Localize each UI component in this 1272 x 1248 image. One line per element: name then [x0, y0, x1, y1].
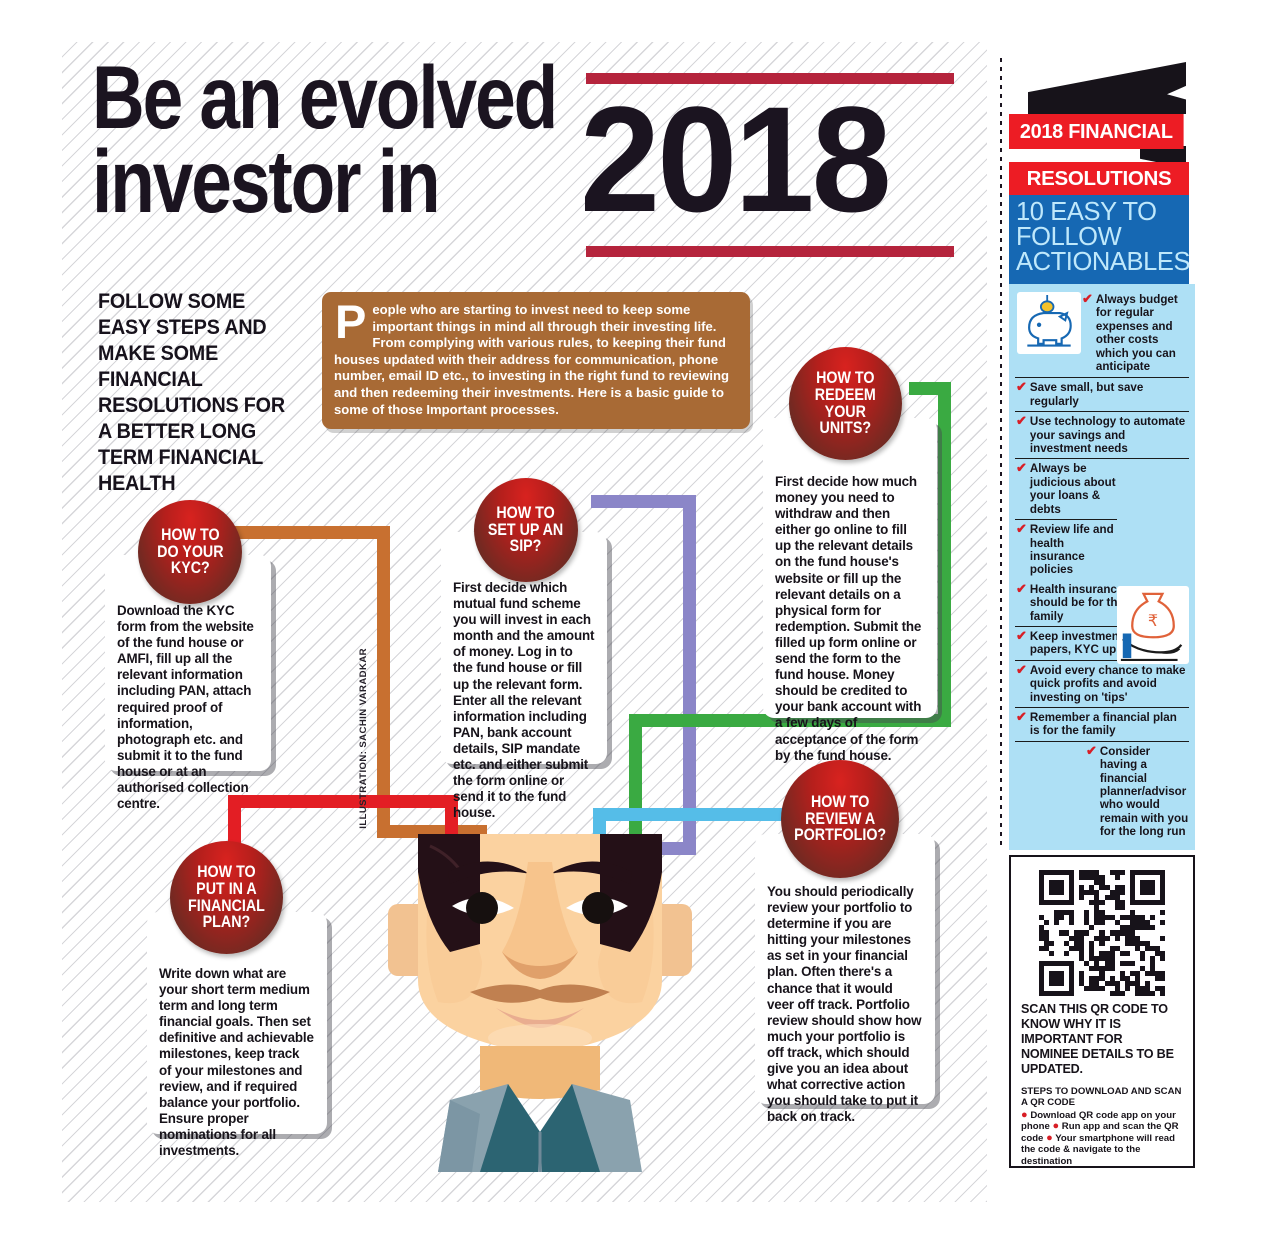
ribbon-title-line-1: 2018 FINANCIAL: [1009, 114, 1184, 149]
investor-illustration: [330, 832, 750, 1172]
badge-redeem-line-3: YOUR: [815, 404, 876, 421]
badge-redeem[interactable]: HOW TO REDEEM YOUR UNITS?: [789, 347, 902, 460]
badge-plan-line-4: PLAN?: [188, 914, 265, 931]
badge-sip[interactable]: HOW TO SET UP AN SIP?: [474, 478, 578, 582]
check-icon: ✔: [1016, 462, 1027, 474]
badge-kyc[interactable]: HOW TO DO YOUR KYC?: [138, 500, 242, 604]
pipe-orange-vertical: [377, 526, 390, 838]
badge-review-portfolio[interactable]: HOW TO REVIEW A PORTFOLIO?: [781, 760, 899, 878]
resolutions-sidebar: 2018 FINANCIAL RESOLUTIONS 10 EASY TO FO…: [1009, 62, 1195, 850]
qr-steps-title: STEPS TO DOWNLOAD AND SCAN A QR CODE: [1021, 1086, 1183, 1108]
check-icon: ✔: [1016, 583, 1027, 595]
headline-year-block: 2018: [586, 60, 954, 260]
pipe-orange-horizontal-top: [225, 526, 390, 539]
intro-card: People who are starting to invest need t…: [322, 292, 750, 429]
headline-year: 2018: [580, 78, 889, 240]
pipe-purple-vertical: [683, 495, 696, 855]
resolution-text: Remember a financial plan is for the fam…: [1030, 711, 1189, 738]
pipe-green-vertical-right: [938, 382, 951, 727]
card-redeem: First decide how much money you need to …: [763, 418, 937, 718]
list-item: ✔ Save small, but save regularly: [1015, 378, 1189, 412]
badge-kyc-line-1: HOW TO: [157, 527, 223, 544]
check-icon: ✔: [1016, 664, 1027, 676]
list-item: ✔ Remember a financial plan is for the f…: [1015, 708, 1189, 742]
qr-steps-body: ● Download QR code app on your phone ● R…: [1021, 1110, 1183, 1167]
ribbon-title-line-2: RESOLUTIONS: [1009, 162, 1189, 195]
list-item: ✔ Avoid every chance to make quick profi…: [1015, 661, 1189, 708]
badge-redeem-line-1: HOW TO: [815, 370, 876, 387]
resolution-text: Use technology to automate your savings …: [1030, 415, 1189, 455]
resolution-item-10-wrap: ✔ Consider having a financial planner/ad…: [1015, 742, 1189, 842]
year-rule-bottom: [586, 246, 954, 257]
kicker-text: FOLLOW SOME EASY STEPS AND MAKE SOME FIN…: [98, 289, 300, 497]
resolution-text: Review life and health insurance policie…: [1030, 523, 1117, 577]
resolution-text: Save small, but save regularly: [1030, 381, 1189, 408]
resolution-text: Avoid every chance to make quick profits…: [1030, 664, 1189, 704]
check-icon: ✔: [1016, 415, 1027, 427]
badge-financial-plan[interactable]: HOW TO PUT IN A FINANCIAL PLAN?: [170, 841, 283, 954]
pipe-purple-horizontal-top: [591, 495, 696, 508]
svg-text:₹: ₹: [1148, 612, 1158, 630]
resolution-text: Always be judicious about your loans & d…: [1030, 462, 1117, 516]
badge-plan-line-1: HOW TO: [188, 864, 265, 881]
list-item: ✔ Always be judicious about your loans &…: [1015, 459, 1117, 520]
check-icon: ✔: [1086, 745, 1097, 757]
check-icon: ✔: [1016, 523, 1027, 535]
resolution-text: Consider having a financial planner/advi…: [1100, 745, 1189, 839]
badge-sip-line-1: HOW TO: [488, 505, 563, 522]
qr-headline: SCAN THIS QR CODE TO KNOW WHY IT IS IMPO…: [1021, 1002, 1183, 1077]
intro-paragraph: People who are starting to invest need t…: [334, 302, 737, 418]
bullet-icon: ●: [1046, 1132, 1053, 1144]
resolution-item-4-wrap: ✔ Always be judicious about your loans &…: [1015, 459, 1189, 579]
card-redeem-body: First decide how much money you need to …: [763, 418, 937, 764]
check-icon: ✔: [1016, 630, 1027, 642]
badge-sip-line-3: SIP?: [488, 538, 563, 555]
qr-panel: SCAN THIS QR CODE TO KNOW WHY IT IS IMPO…: [1009, 855, 1195, 1168]
list-item: ✔ Consider having a financial planner/ad…: [1085, 742, 1189, 842]
bullet-icon: ●: [1021, 1109, 1028, 1121]
infographic-page: Be an evolved investor in 2018 FOLLOW SO…: [0, 0, 1272, 1248]
qr-code-image: [1039, 870, 1165, 996]
badge-review-line-3: PORTFOLIO?: [794, 827, 886, 844]
resolution-text: Always budget for regular expenses and o…: [1096, 293, 1189, 373]
check-icon: ✔: [1082, 293, 1093, 305]
badge-plan-line-3: FINANCIAL: [188, 898, 265, 915]
vertical-dotted-divider: [1000, 58, 1002, 848]
check-icon: ✔: [1016, 711, 1027, 723]
check-icon: ✔: [1016, 381, 1027, 393]
list-item: ✔ Use technology to automate your saving…: [1015, 412, 1189, 459]
badge-kyc-line-2: DO YOUR: [157, 544, 223, 561]
badge-plan-line-2: PUT IN A: [188, 881, 265, 898]
resolutions-list: ✔ Always budget for regular expenses and…: [1009, 284, 1195, 850]
list-item: ✔ Review life and health insurance polic…: [1015, 520, 1117, 580]
badge-review-line-1: HOW TO: [794, 794, 886, 811]
sidebar-blue-title: 10 EASY TO FOLLOW ACTIONABLES: [1009, 195, 1189, 284]
bullet-icon: ●: [1052, 1120, 1059, 1132]
illustration-credit: ILLUSTRATION: SACHIN VARADKAR: [358, 648, 369, 829]
badge-redeem-line-2: REDEEM: [815, 387, 876, 404]
badge-review-line-2: REVIEW A: [794, 811, 886, 828]
pipe-blue-horizontal: [593, 808, 793, 821]
badge-sip-line-2: SET UP AN: [488, 522, 563, 539]
qr-step-3: Your smartphone will read the code & nav…: [1021, 1133, 1175, 1167]
badge-kyc-line-3: KYC?: [157, 560, 223, 577]
piggy-bank-icon: [1017, 292, 1081, 354]
money-bag-in-hand-icon: ₹: [1117, 586, 1189, 664]
list-item: ✔ Always budget for regular expenses and…: [1081, 290, 1189, 376]
badge-redeem-line-4: UNITS?: [815, 420, 876, 437]
